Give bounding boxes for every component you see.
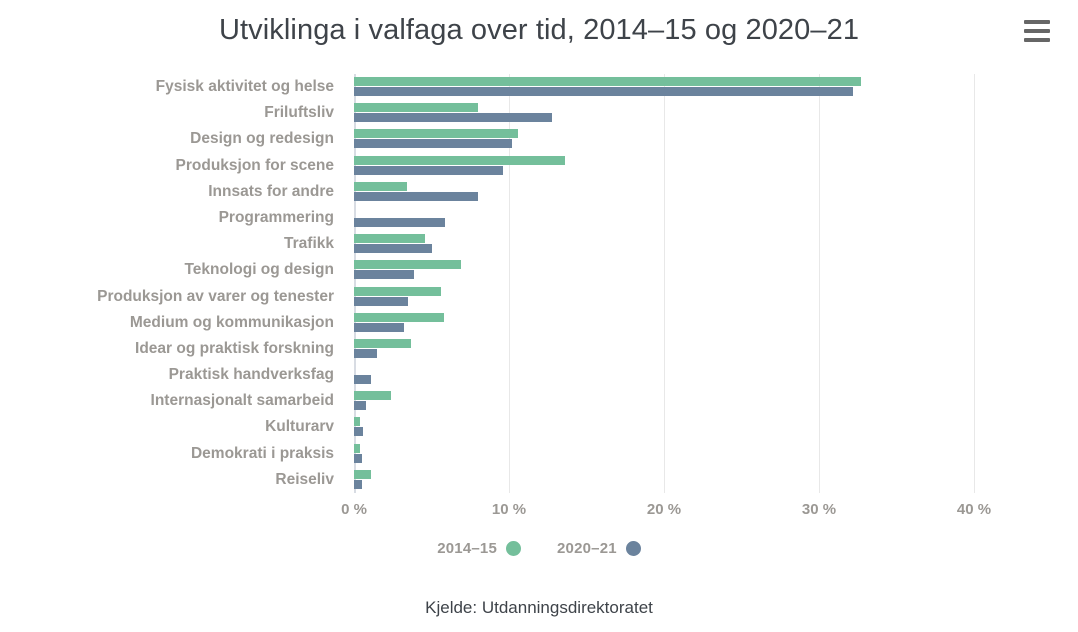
- hamburger-bar-3: [1024, 38, 1050, 42]
- bar-series-a[interactable]: [354, 182, 407, 191]
- x-tick-label: 40 %: [957, 501, 991, 518]
- bar-series-b[interactable]: [354, 375, 371, 384]
- x-tick-label: 20 %: [647, 501, 681, 518]
- bar-row: [354, 100, 974, 126]
- legend-item[interactable]: 2014–15: [437, 540, 521, 557]
- bar-series-b[interactable]: [354, 349, 377, 358]
- legend-marker-icon: [626, 541, 641, 556]
- category-label: Reiseliv: [0, 467, 344, 493]
- bar-series-b[interactable]: [354, 166, 503, 175]
- bar-row: [354, 231, 974, 257]
- chart-header: Utviklinga i valfaga over tid, 2014–15 o…: [0, 0, 1078, 66]
- bar-series-b[interactable]: [354, 113, 552, 122]
- category-label: Kulturarv: [0, 414, 344, 440]
- bar-series-a[interactable]: [354, 417, 360, 426]
- category-label: Programmering: [0, 205, 344, 231]
- bar-row: [354, 388, 974, 414]
- bar-series-b[interactable]: [354, 427, 363, 436]
- bar-series-a[interactable]: [354, 287, 441, 296]
- bar-series-b[interactable]: [354, 480, 362, 489]
- bar-series-b[interactable]: [354, 87, 853, 96]
- category-label: Medium og kommunikasjon: [0, 310, 344, 336]
- bar-row: [354, 310, 974, 336]
- category-label: Internasjonalt samarbeid: [0, 388, 344, 414]
- category-label: Praktisk handverksfag: [0, 362, 344, 388]
- bar-series-a[interactable]: [354, 77, 861, 86]
- category-label: Trafikk: [0, 231, 344, 257]
- gridline: [974, 74, 975, 493]
- bar-row: [354, 74, 974, 100]
- legend-label: 2020–21: [557, 540, 617, 557]
- x-tick-label: 10 %: [492, 501, 526, 518]
- category-label: Innsats for andre: [0, 179, 344, 205]
- bar-series-a[interactable]: [354, 470, 371, 479]
- category-label: Friluftsliv: [0, 100, 344, 126]
- category-label: Design og redesign: [0, 126, 344, 152]
- bar-series-b[interactable]: [354, 270, 414, 279]
- category-axis-labels: Fysisk aktivitet og helseFriluftslivDesi…: [0, 74, 344, 493]
- bar-series-a[interactable]: [354, 156, 565, 165]
- category-label: Produksjon for scene: [0, 153, 344, 179]
- bar-row: [354, 441, 974, 467]
- category-label: Idear og praktisk forskning: [0, 336, 344, 362]
- chart-container: Utviklinga i valfaga over tid, 2014–15 o…: [0, 0, 1078, 632]
- bar-row: [354, 126, 974, 152]
- legend-item[interactable]: 2020–21: [557, 540, 641, 557]
- bar-series-b[interactable]: [354, 192, 478, 201]
- bar-series-b[interactable]: [354, 323, 404, 332]
- bar-row: [354, 414, 974, 440]
- bar-rows: [354, 74, 974, 493]
- bar-series-b[interactable]: [354, 401, 366, 410]
- bar-row: [354, 467, 974, 493]
- bar-series-a[interactable]: [354, 103, 478, 112]
- bar-series-a[interactable]: [354, 339, 411, 348]
- hamburger-menu-icon[interactable]: [1024, 18, 1052, 44]
- bars-region: [354, 74, 974, 493]
- bar-series-a[interactable]: [354, 391, 391, 400]
- hamburger-bar-1: [1024, 20, 1050, 24]
- bar-series-b[interactable]: [354, 139, 512, 148]
- bar-series-a[interactable]: [354, 234, 425, 243]
- bar-series-b[interactable]: [354, 218, 445, 227]
- bar-row: [354, 284, 974, 310]
- bar-series-a[interactable]: [354, 260, 461, 269]
- bar-series-b[interactable]: [354, 244, 432, 253]
- category-label: Fysisk aktivitet og helse: [0, 74, 344, 100]
- chart-credits: Kjelde: Utdanningsdirektoratet: [0, 598, 1078, 618]
- category-label: Teknologi og design: [0, 257, 344, 283]
- x-axis: 0 %10 %20 %30 %40 %: [354, 501, 974, 525]
- bar-row: [354, 205, 974, 231]
- category-label: Produksjon av varer og tenester: [0, 284, 344, 310]
- bar-series-a[interactable]: [354, 444, 360, 453]
- bar-row: [354, 336, 974, 362]
- bar-row: [354, 153, 974, 179]
- x-tick-label: 0 %: [341, 501, 367, 518]
- bar-row: [354, 257, 974, 283]
- category-label: Demokrati i praksis: [0, 441, 344, 467]
- x-tick-label: 30 %: [802, 501, 836, 518]
- bar-series-a[interactable]: [354, 313, 444, 322]
- bar-row: [354, 179, 974, 205]
- bar-series-a[interactable]: [354, 129, 518, 138]
- page-title: Utviklinga i valfaga over tid, 2014–15 o…: [0, 14, 1078, 47]
- bar-series-b[interactable]: [354, 454, 362, 463]
- legend-label: 2014–15: [437, 540, 497, 557]
- bar-series-b[interactable]: [354, 297, 408, 306]
- bar-row: [354, 362, 974, 388]
- plot-area: Fysisk aktivitet og helseFriluftslivDesi…: [0, 66, 1078, 526]
- chart-legend: 2014–152020–21: [0, 540, 1078, 557]
- hamburger-bar-2: [1024, 29, 1050, 33]
- legend-marker-icon: [506, 541, 521, 556]
